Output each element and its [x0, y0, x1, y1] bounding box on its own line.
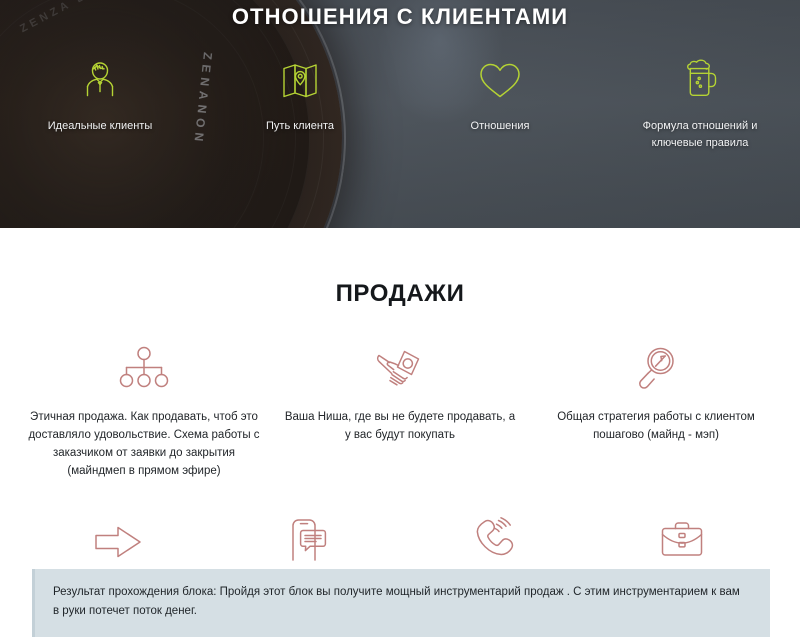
person-client-icon — [80, 56, 120, 104]
sales-section: ПРОДАЖИ Этичная продажа. Как продавать, … — [0, 228, 800, 596]
hero-title: ОТНОШЕНИЯ С КЛИЕНТАМИ — [0, 4, 800, 30]
hero-item-label: Отношения — [471, 118, 530, 135]
hero-item-label: Формула отношений и ключевые правила — [625, 118, 775, 152]
phone-chat-icon — [284, 516, 328, 562]
arrow-right-icon — [90, 516, 146, 562]
telephone-ring-icon — [470, 516, 518, 562]
sales-row-primary: Этичная продажа. Как продавать, чтоб это… — [0, 346, 800, 480]
magnifier-arrow-icon — [632, 346, 680, 392]
sales-item-label: Общая стратегия работы с клиентом пошаго… — [540, 408, 772, 444]
sales-item-strategy[interactable]: Общая стратегия работы с клиентом пошаго… — [528, 346, 784, 480]
hero-item-label: Идеальные клиенты — [48, 118, 153, 135]
beer-mug-icon — [679, 56, 721, 104]
map-pin-icon — [279, 56, 321, 104]
hero-item-client-journey[interactable]: Путь клиента — [200, 56, 400, 152]
hero-item-relationship-formula[interactable]: Формула отношений и ключевые правила — [600, 56, 800, 152]
result-banner-wrapper: Результат прохождения блока: Пройдя этот… — [0, 569, 800, 637]
sales-title: ПРОДАЖИ — [0, 280, 800, 308]
org-chart-icon — [116, 346, 172, 392]
sales-item-label: Этичная продажа. Как продавать, чтоб это… — [28, 408, 260, 480]
hero-item-relationships[interactable]: Отношения — [400, 56, 600, 152]
hero-item-label: Путь клиента — [266, 118, 334, 135]
hand-money-icon — [373, 346, 427, 392]
result-banner-text: Результат прохождения блока: Пройдя этот… — [53, 583, 740, 621]
sales-item-your-niche[interactable]: Ваша Ниша, где вы не будете продавать, а… — [272, 346, 528, 480]
sales-item-label: Ваша Ниша, где вы не будете продавать, а… — [284, 408, 516, 444]
briefcase-icon — [657, 516, 707, 562]
heart-icon — [477, 56, 523, 104]
hero-section: ZENANON ZENZA BRONI ОТНОШЕНИЯ С КЛИЕНТАМ… — [0, 0, 800, 228]
hero-feature-list: Идеальные клиенты Путь клиента Отнош — [0, 56, 800, 152]
hero-item-ideal-clients[interactable]: Идеальные клиенты — [0, 56, 200, 152]
sales-item-ethical-selling[interactable]: Этичная продажа. Как продавать, чтоб это… — [16, 346, 272, 480]
result-banner: Результат прохождения блока: Пройдя этот… — [32, 569, 770, 637]
